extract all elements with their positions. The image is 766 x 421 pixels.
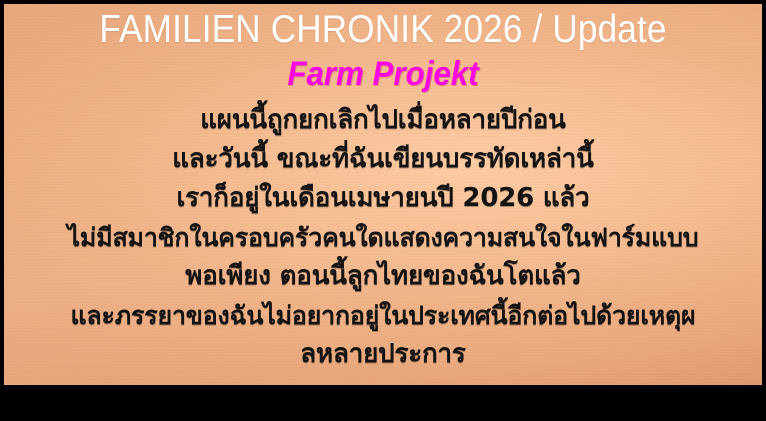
letterbox-left <box>0 0 4 421</box>
slide-body: แผนนี้ถูกยกเลิกไปเมื่อหลายปีก่อน และวันน… <box>4 101 762 374</box>
body-line: และวันนี้ ขณะที่ฉันเขียนบรรทัดเหล่านี้ <box>4 140 762 179</box>
letterbox-right <box>762 0 766 421</box>
body-line-clipped: ลหลายประการ <box>4 335 762 374</box>
letterbox-bottom <box>0 385 766 421</box>
letterbox-top <box>0 0 766 4</box>
body-line: พอเพียง ตอนนี้ลูกไทยของฉันโตแล้ว <box>4 257 762 296</box>
body-line: ไม่มีสมาชิกในครอบครัวคนใดแสดงความสนใจในฟ… <box>4 218 762 257</box>
slide-title: FAMILIEN CHRONIK 2026 / Update <box>42 4 724 49</box>
video-frame: FAMILIEN CHRONIK 2026 / Update Farm Proj… <box>0 0 766 421</box>
slide-background: FAMILIEN CHRONIK 2026 / Update Farm Proj… <box>4 4 762 385</box>
slide-content: FAMILIEN CHRONIK 2026 / Update Farm Proj… <box>4 4 762 385</box>
body-line: เราก็อยู่ในเดือนเมษายนปี 2026 แล้ว <box>4 179 762 218</box>
slide-subtitle: Farm Projekt <box>34 57 731 91</box>
body-line: และภรรยาของฉันไม่อยากอยู่ในประเทศนี้อีกต… <box>4 296 762 335</box>
body-line: แผนนี้ถูกยกเลิกไปเมื่อหลายปีก่อน <box>4 101 762 140</box>
